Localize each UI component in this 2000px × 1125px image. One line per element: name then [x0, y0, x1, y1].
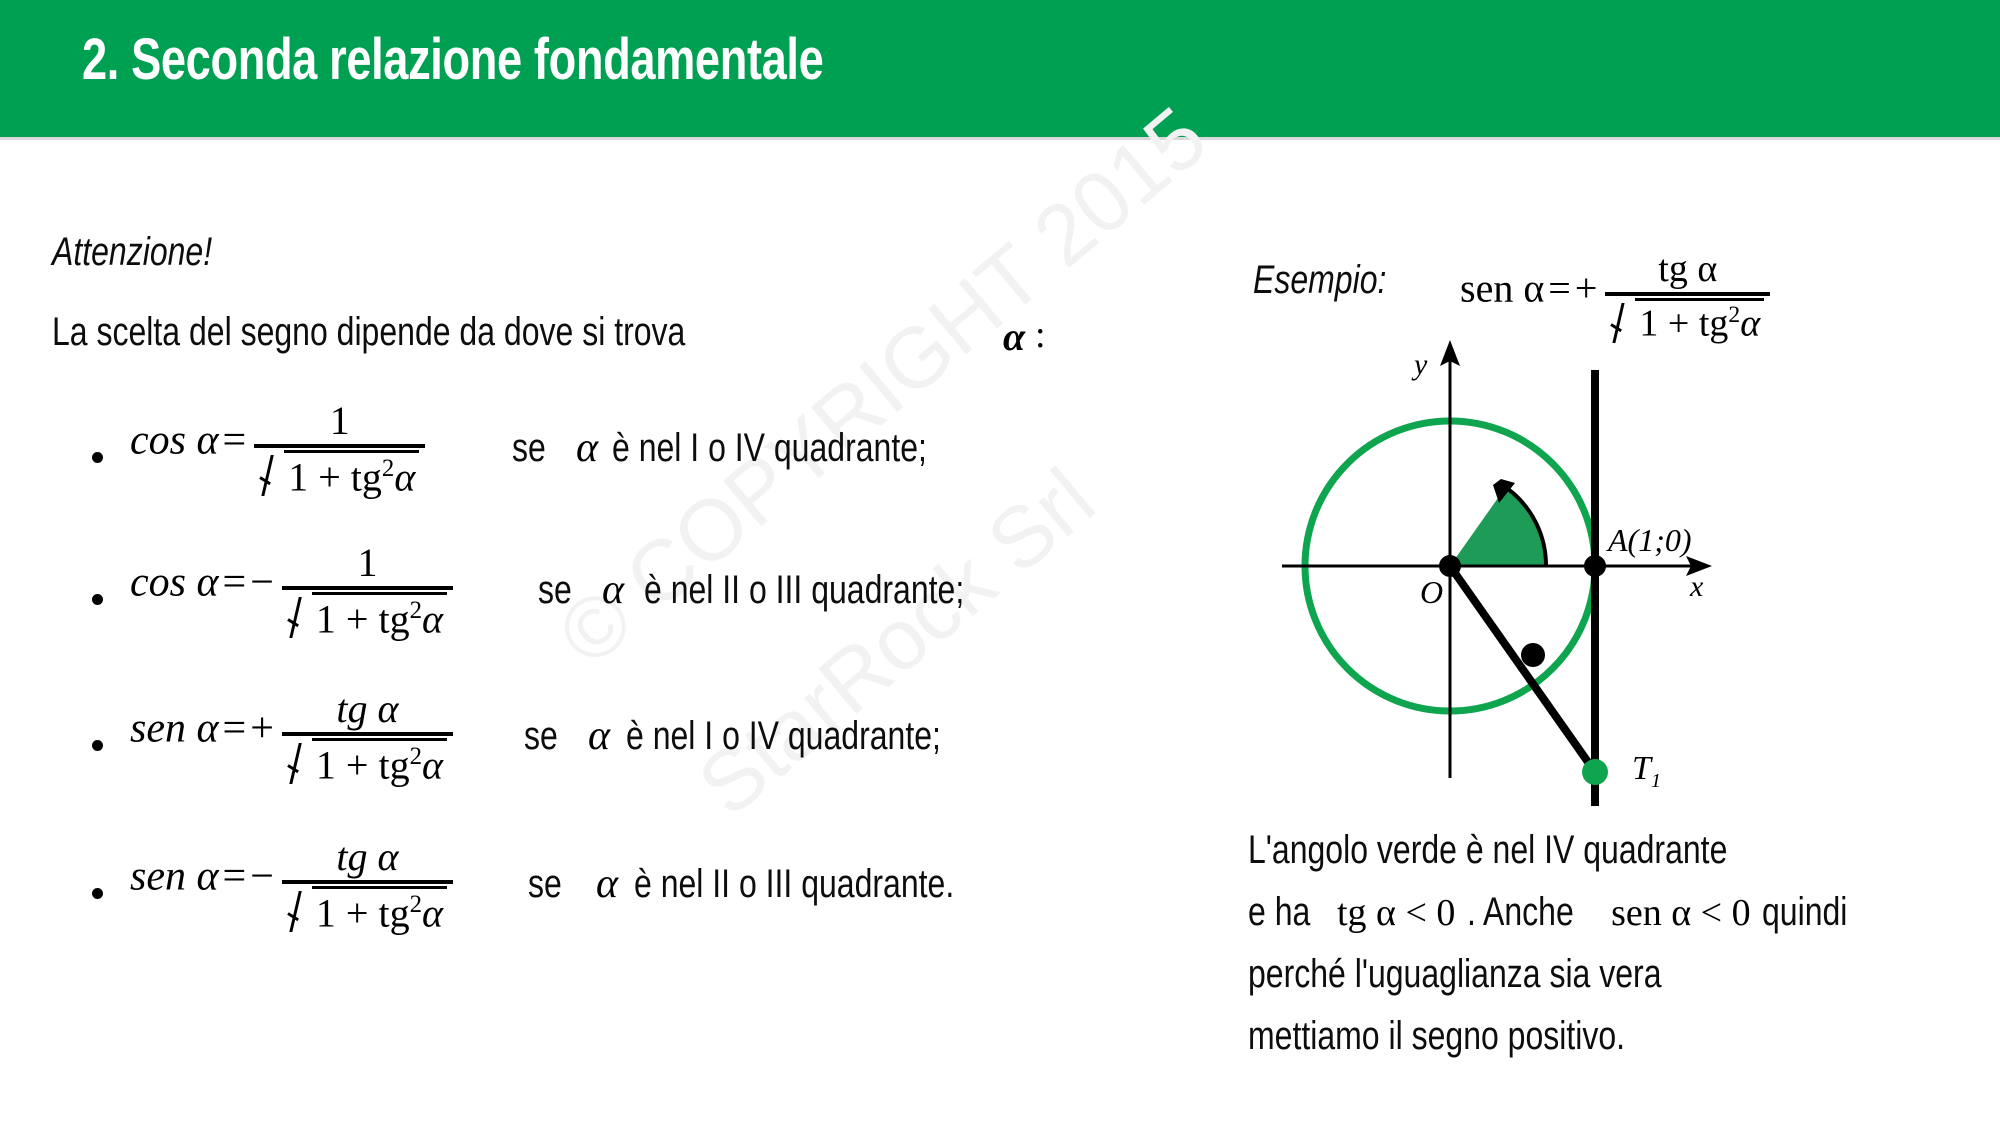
formula-lhs: cos α	[130, 559, 219, 605]
point-t1	[1582, 759, 1608, 785]
formula-sign: +	[1575, 265, 1598, 310]
condition-prefix: se	[538, 568, 572, 613]
fraction-numerator: tg α	[1605, 250, 1770, 290]
y-axis-label: y	[1414, 348, 1427, 382]
point-t1-label: T1	[1632, 750, 1661, 793]
paragraph-line-2: e ha tg α < 0 . Anche sen α < 0 quindi	[1248, 890, 1948, 952]
square-root-icon: 1 + tg2α	[288, 738, 447, 787]
fraction: 1 1 + tg2α	[254, 400, 425, 499]
fraction: tg α 1 + tg2α	[282, 688, 453, 787]
intro-alpha-symbol: α	[1003, 313, 1025, 360]
explanation-paragraph: L'angolo verde è nel IV quadrante e ha t…	[1248, 828, 1948, 1076]
paragraph-line-2-c: quindi	[1762, 890, 1847, 935]
condition-alpha: α	[596, 860, 618, 908]
formula-lhs: sen α	[130, 705, 219, 751]
formula-equals: =	[223, 417, 247, 463]
fraction: tg α 1 + tg2α	[282, 836, 453, 935]
terminal-side-ray	[1450, 566, 1595, 772]
radicand: 1 + tg2α	[312, 592, 447, 641]
fraction-bar	[254, 444, 425, 448]
paragraph-line-4: mettiamo il segno positivo.	[1248, 1014, 1948, 1076]
bullet-marker	[92, 594, 103, 605]
formula-equals: =	[1548, 265, 1571, 310]
example-label: Esempio:	[1253, 258, 1386, 303]
fraction-numerator: tg α	[282, 836, 453, 878]
page-title: 2. Seconda relazione fondamentale	[82, 26, 823, 93]
formula-sign: −	[250, 559, 274, 605]
bullet-marker	[92, 452, 103, 463]
paragraph-line-2-a: e ha	[1248, 890, 1310, 935]
fraction-denominator: 1 + tg2α	[282, 738, 453, 787]
fraction-bar	[1605, 292, 1770, 296]
formula-lhs: sen α	[130, 853, 219, 899]
square-root-icon: 1 + tg2α	[288, 592, 447, 641]
slide-root: 2. Seconda relazione fondamentale © COPY…	[0, 0, 2000, 1125]
square-root-icon: 1 + tg2α	[288, 886, 447, 935]
x-axis-label: x	[1690, 570, 1703, 604]
condition-text: è nel I o IV quadrante;	[612, 426, 927, 471]
formula-cos-positive: cos α = 1 1 + tg2α	[130, 400, 429, 499]
radicand: 1 + tg2α	[312, 886, 447, 935]
fraction-numerator: 1	[282, 542, 453, 584]
formula-sen-positive: sen α = + tg α 1 + tg2α	[130, 688, 457, 787]
condition-text: è nel II o III quadrante;	[644, 568, 964, 613]
attention-label: Attenzione!	[52, 230, 212, 275]
header-divider	[0, 137, 2000, 140]
formula-equals: =	[223, 853, 247, 899]
inline-math-tg: tg α < 0	[1337, 892, 1455, 934]
fraction-numerator: 1	[254, 400, 425, 442]
unit-circle-diagram: y x O A(1;0) T1	[1250, 330, 1750, 830]
paragraph-line-3: perché l'uguaglianza sia vera	[1248, 952, 1948, 1014]
fraction-denominator: 1 + tg2α	[282, 886, 453, 935]
formula-equals: =	[223, 705, 247, 751]
formula-equals: =	[223, 559, 247, 605]
condition-prefix: se	[524, 714, 558, 759]
paragraph-line-2-b: . Anche	[1467, 890, 1574, 935]
condition-alpha: α	[588, 712, 610, 760]
formula-sign: +	[250, 705, 274, 751]
fraction-bar	[282, 732, 453, 736]
condition-alpha: α	[576, 424, 598, 472]
fraction-bar	[282, 586, 453, 590]
fraction-denominator: 1 + tg2α	[282, 592, 453, 641]
condition-prefix: se	[528, 862, 562, 907]
inline-math-sen: sen α < 0	[1611, 892, 1751, 934]
condition-alpha: α	[602, 566, 624, 614]
bullet-marker	[92, 740, 103, 751]
formula-cos-negative: cos α = − 1 1 + tg2α	[130, 542, 457, 641]
intro-text: La scelta del segno dipende da dove si t…	[52, 310, 685, 355]
condition-text: è nel II o III quadrante.	[634, 862, 954, 907]
circle-intersection-point	[1521, 643, 1545, 667]
bullet-marker	[92, 888, 103, 899]
paragraph-line-1-text: L'angolo verde è nel IV quadrante	[1248, 828, 1727, 873]
watermark-line-2: StarRock Srl	[680, 450, 1113, 836]
formula-sign: −	[250, 853, 274, 899]
origin-label: O	[1420, 574, 1443, 611]
point-a	[1584, 555, 1606, 577]
fraction-denominator: 1 + tg2α	[254, 450, 425, 499]
radicand: 1 + tg2α	[284, 450, 419, 499]
intro-colon: :	[1035, 313, 1046, 357]
formula-lhs: cos α	[130, 417, 219, 463]
formula-lhs: sen α	[1460, 265, 1544, 310]
paragraph-line-1: L'angolo verde è nel IV quadrante	[1248, 828, 1948, 890]
paragraph-line-4-text: mettiamo il segno positivo.	[1248, 1014, 1625, 1059]
paragraph-line-3-text: perché l'uguaglianza sia vera	[1248, 952, 1661, 997]
fraction: 1 1 + tg2α	[282, 542, 453, 641]
point-a-label: A(1;0)	[1608, 522, 1692, 559]
square-root-icon: 1 + tg2α	[260, 450, 419, 499]
radicand: 1 + tg2α	[312, 738, 447, 787]
fraction-bar	[282, 880, 453, 884]
condition-text: è nel I o IV quadrante;	[626, 714, 941, 759]
condition-prefix: se	[512, 426, 546, 471]
formula-sen-negative: sen α = − tg α 1 + tg2α	[130, 836, 457, 935]
fraction-numerator: tg α	[282, 688, 453, 730]
